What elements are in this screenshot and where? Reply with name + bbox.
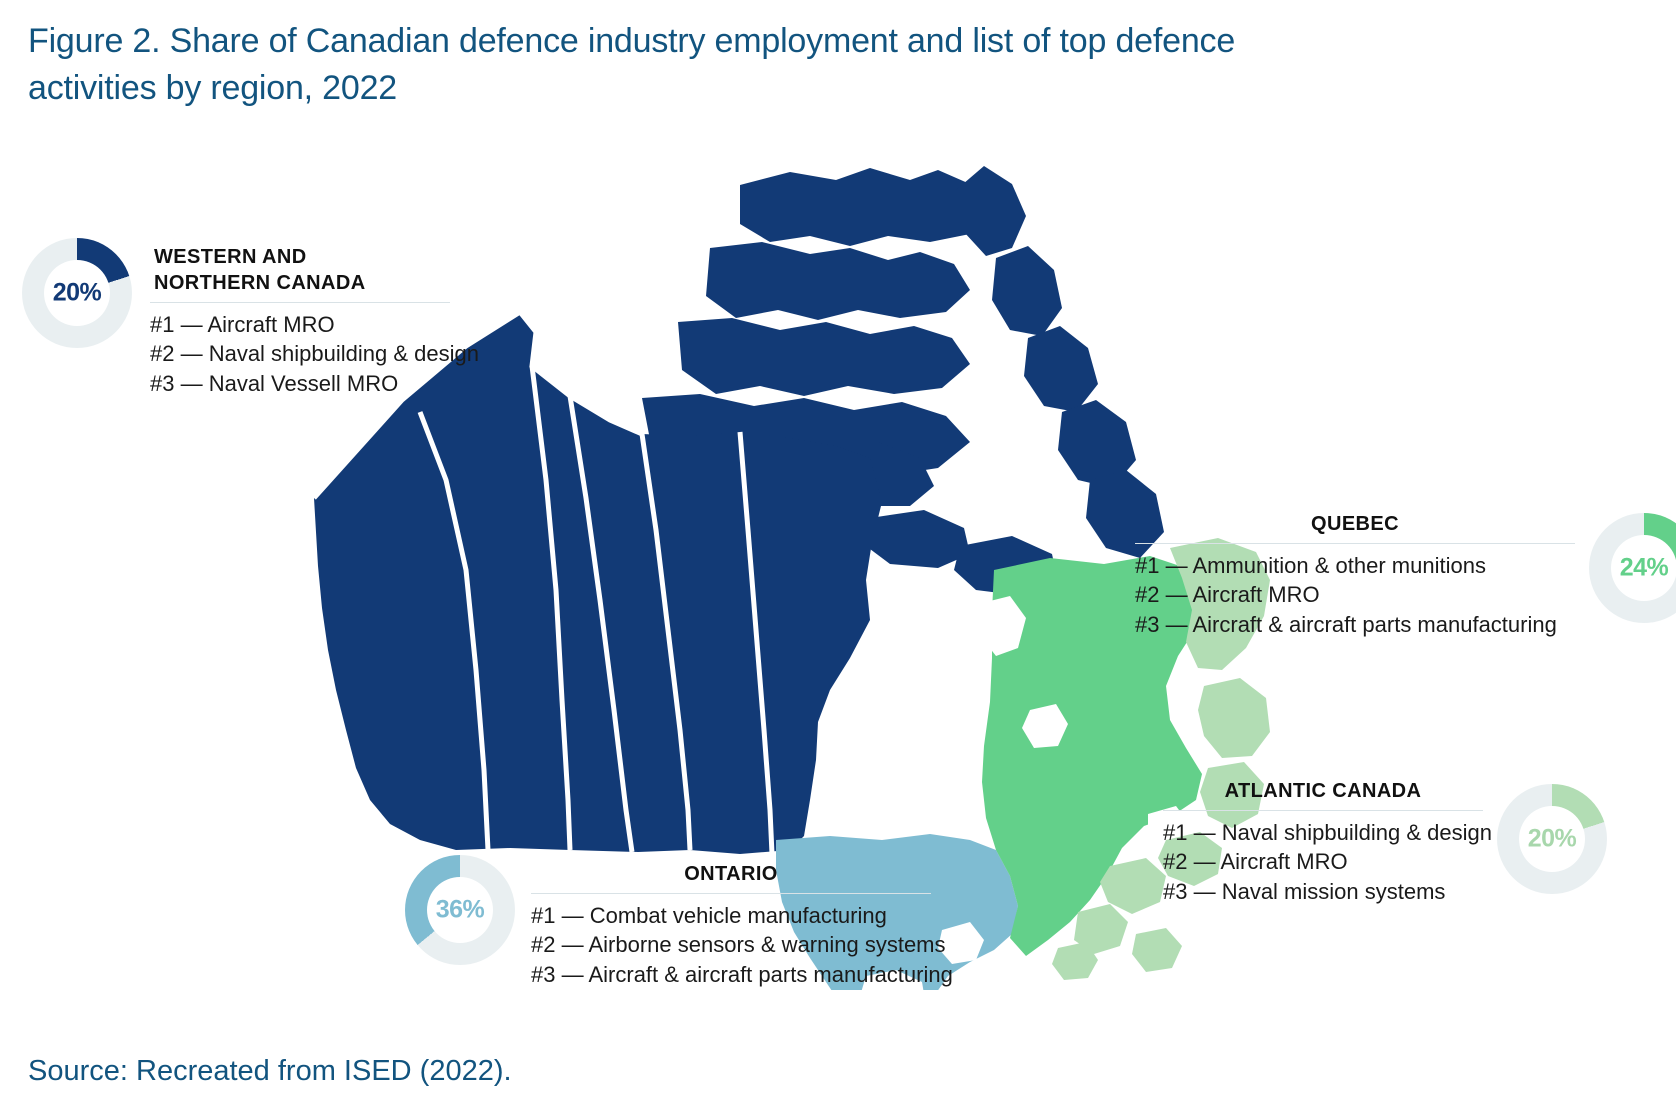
activity-label: Aircraft MRO [207, 312, 334, 337]
activity-label: Aircraft MRO [1220, 849, 1347, 874]
rank-label: #3 — [1163, 879, 1222, 904]
donut-chart-quebec: 24% [1589, 513, 1676, 623]
rank-label: #3 — [1135, 612, 1192, 637]
divider [531, 893, 931, 894]
callout-quebec: QUEBEC #1 — Ammunition & other munitions… [1135, 505, 1676, 639]
activity-label: Aircraft MRO [1192, 582, 1319, 607]
list-item: #3 — Naval Vessell MRO [150, 369, 450, 398]
callout-atlantic-canada: ATLANTIC CANADA #1 — Naval shipbuilding … [1163, 772, 1607, 906]
activity-list-quebec: #1 — Ammunition & other munitions #2 — A… [1135, 551, 1575, 639]
donut-percent-atlantic: 20% [1528, 825, 1577, 854]
list-item: #2 — Aircraft MRO [1135, 580, 1575, 609]
rank-label: #2 — [1163, 849, 1220, 874]
list-item: #2 — Aircraft MRO [1163, 847, 1483, 876]
callout-title-ontario: ONTARIO [531, 861, 931, 887]
activity-label: Naval shipbuilding & design [1222, 820, 1492, 845]
source-note: Source: Recreated from ISED (2022). [28, 1055, 512, 1088]
rank-label: #3 — [150, 371, 209, 396]
divider [1163, 810, 1483, 811]
rank-label: #1 — [1135, 553, 1192, 578]
rank-label: #2 — [150, 341, 209, 366]
activity-list-atlantic: #1 — Naval shipbuilding & design #2 — Ai… [1163, 818, 1483, 906]
list-item: #2 — Naval shipbuilding & design [150, 339, 450, 368]
rank-label: #3 — [531, 962, 588, 987]
activity-label: Aircraft & aircraft parts manufacturing [588, 962, 952, 987]
activity-label: Naval Vessell MRO [209, 371, 399, 396]
rank-label: #1 — [531, 903, 590, 928]
donut-percent-ontario: 36% [436, 896, 485, 925]
list-item: #2 — Airborne sensors & warning systems [531, 930, 931, 959]
callout-western-and-northern-canada: 20% WESTERN AND NORTHERN CANADA #1 — Air… [22, 238, 450, 398]
activity-label: Naval mission systems [1222, 879, 1446, 904]
list-item: #3 — Aircraft & aircraft parts manufactu… [531, 960, 931, 989]
callout-title-quebec: QUEBEC [1135, 511, 1575, 537]
donut-chart-atlantic: 20% [1497, 784, 1607, 894]
donut-percent-western: 20% [53, 279, 102, 308]
list-item: #1 — Aircraft MRO [150, 310, 450, 339]
list-item: #1 — Naval shipbuilding & design [1163, 818, 1483, 847]
donut-chart-ontario: 36% [405, 855, 515, 965]
list-item: #3 — Naval mission systems [1163, 877, 1483, 906]
rank-label: #1 — [1163, 820, 1222, 845]
callout-ontario: 36% ONTARIO #1 — Combat vehicle manufact… [405, 855, 931, 989]
donut-chart-western: 20% [22, 238, 132, 348]
rank-label: #1 — [150, 312, 207, 337]
activity-label: Ammunition & other munitions [1192, 553, 1485, 578]
callout-title-western: WESTERN AND NORTHERN CANADA [150, 244, 450, 296]
list-item: #1 — Combat vehicle manufacturing [531, 901, 931, 930]
activity-label: Combat vehicle manufacturing [590, 903, 887, 928]
page-title: Figure 2. Share of Canadian defence indu… [28, 18, 1328, 111]
activity-label: Airborne sensors & warning systems [588, 932, 945, 957]
donut-percent-quebec: 24% [1620, 554, 1669, 583]
rank-label: #2 — [1135, 582, 1192, 607]
divider [150, 302, 450, 303]
activity-label: Aircraft & aircraft parts manufacturing [1192, 612, 1556, 637]
activity-label: Naval shipbuilding & design [209, 341, 479, 366]
list-item: #3 — Aircraft & aircraft parts manufactu… [1135, 610, 1575, 639]
list-item: #1 — Ammunition & other munitions [1135, 551, 1575, 580]
activity-list-western: #1 — Aircraft MRO #2 — Naval shipbuildin… [150, 310, 450, 398]
divider [1135, 543, 1575, 544]
activity-list-ontario: #1 — Combat vehicle manufacturing #2 — A… [531, 901, 931, 989]
callout-title-atlantic: ATLANTIC CANADA [1163, 778, 1483, 804]
rank-label: #2 — [531, 932, 588, 957]
